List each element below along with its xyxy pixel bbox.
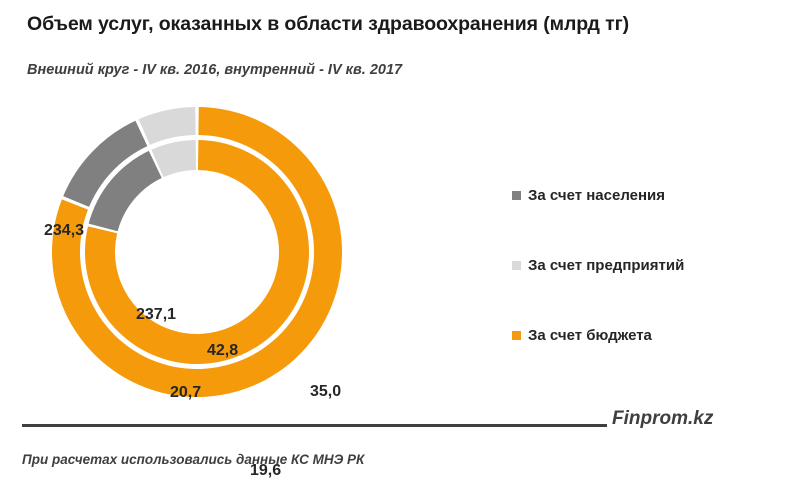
legend-item-budget[interactable]: За счет бюджета [512,300,782,370]
square-marker-icon [512,261,521,270]
legend-item-label: За счет предприятий [528,257,684,274]
page-title: Объем услуг, оказанных в области здравоо… [27,13,767,36]
donut-chart: 234,3 237,1 42,8 20,7 35,0 19,6 [0,100,430,410]
data-label-inner-population: 42,8 [207,342,238,360]
data-label-outer-population: 35,0 [310,383,341,401]
donut-slice[interactable] [139,107,196,145]
legend-item-label: За счет бюджета [528,327,652,344]
square-marker-icon [512,331,521,340]
chart-subtitle: Внешний круг - IV кв. 2016, внутренний -… [27,62,727,78]
data-label-outer-budget: 234,3 [44,222,84,240]
legend-item-label: За счет населения [528,187,665,204]
footer-divider [22,424,607,427]
legend-item-enterprises[interactable]: За счет предприятий [512,230,782,300]
donut-ring-inner-2017 [85,140,309,364]
source-note: При расчетах использовались данные КС МН… [22,452,364,467]
donut-chart-svg [0,100,430,410]
data-label-inner-enterprises: 20,7 [170,384,201,402]
legend: За счет населения За счет предприятий За… [512,160,782,370]
data-label-inner-budget: 237,1 [136,306,176,324]
legend-item-population[interactable]: За счет населения [512,160,782,230]
brand-watermark: Finprom.kz [612,408,713,430]
square-marker-icon [512,191,521,200]
chart-page: Объем услуг, оказанных в области здравоо… [0,0,800,486]
